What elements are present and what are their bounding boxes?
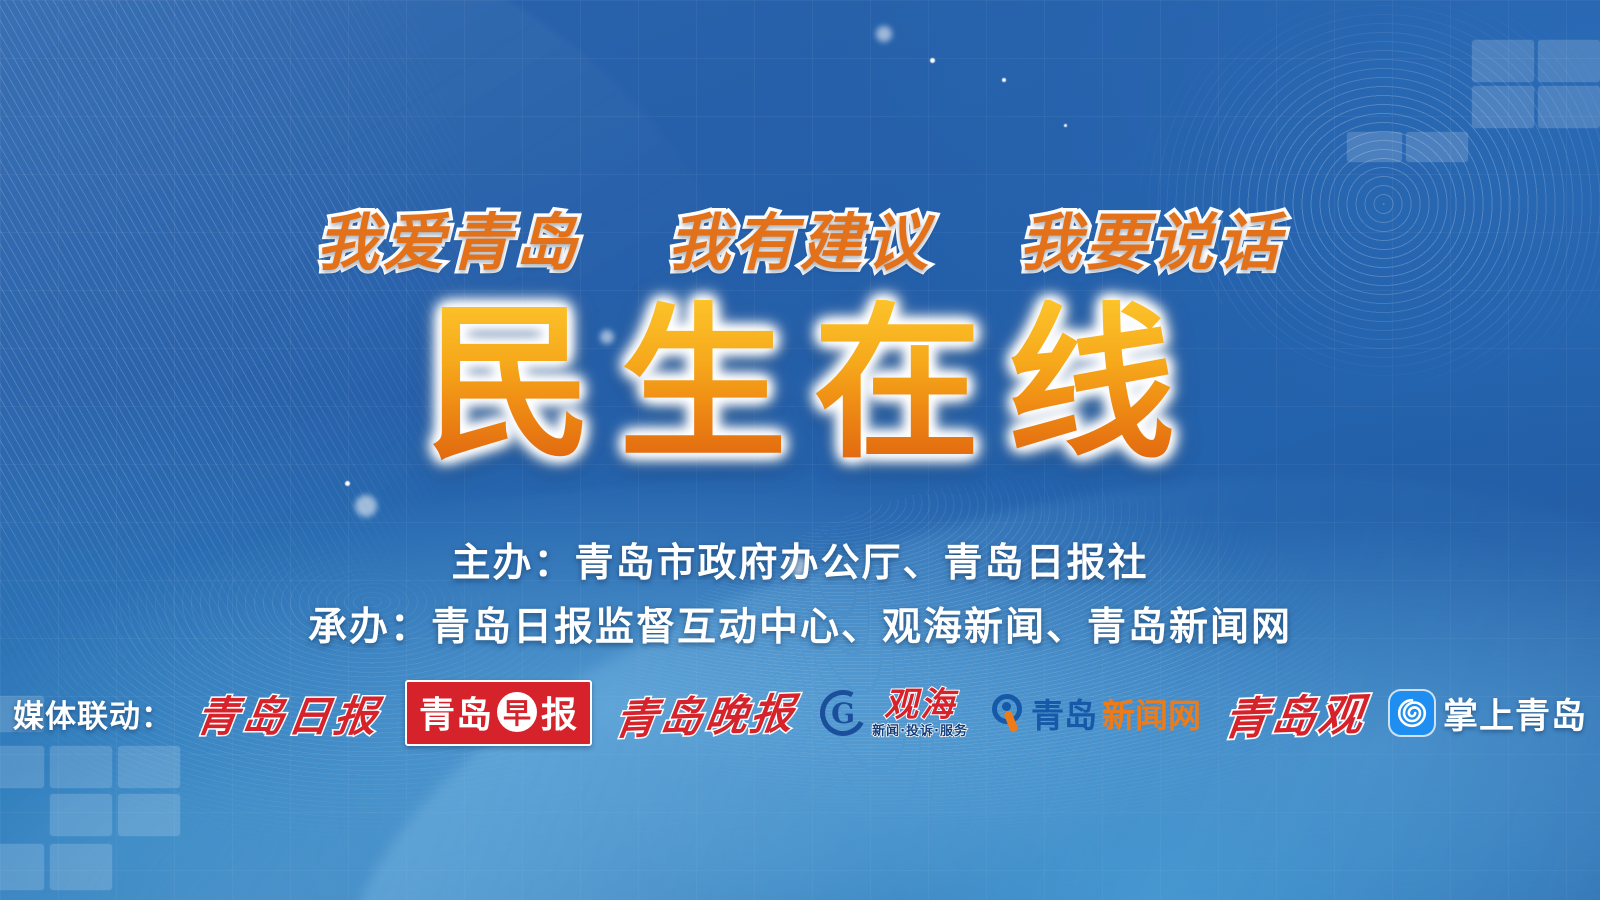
logo-guanhai-text: 观海 [884, 688, 956, 722]
media-partners-row: 媒体联动： 青岛日报 青岛 早 报 青岛晚报 G 观海 新闻·投诉·服务 [0, 676, 1600, 750]
logo-guanhai-text-block: 观海 新闻·投诉·服务 [872, 688, 968, 738]
media-partners-label: 媒体联动： [13, 691, 173, 736]
logo-guanhai-subtext: 新闻·投诉·服务 [872, 725, 968, 738]
tagline-part-2: 我有建议 [668, 206, 932, 279]
logo-qingdao-news-net-prefix: 青岛 [1031, 689, 1097, 737]
logo-qingdao-news-net-suffix: 新闻网 [1102, 689, 1201, 737]
logo-qingdao-evening-news[interactable]: 青岛晚报 [616, 683, 796, 744]
logo-qingdao-news-net[interactable]: 青岛 新闻网 [992, 689, 1201, 737]
logo-guanhai[interactable]: G 观海 新闻·投诉·服务 [820, 688, 968, 738]
main-title-wrapper: 民生在线 [0, 300, 1600, 468]
logo-qingdao-morning-post-suffix: 报 [541, 686, 578, 738]
magnifier-icon [992, 694, 1026, 732]
logo-qingdao-morning-post[interactable]: 青岛 早 报 [405, 680, 592, 746]
logo-qingdao-evening-news-text: 青岛晚报 [611, 679, 801, 746]
logo-zhangshang-qingdao[interactable]: 掌上青岛 [1390, 688, 1587, 739]
poster-content: 我爱青岛 我有建议 我要说话 民生在线 主办：青岛市政府办公厅、青岛日报社 承办… [0, 0, 1600, 900]
guanhai-brush-circle-icon: G [814, 684, 872, 742]
logo-qingdao-daily[interactable]: 青岛日报 [197, 683, 381, 744]
logo-qingdaoguan-text: 青岛观 [1221, 679, 1371, 748]
main-title: 民生在线 [399, 300, 1201, 468]
poster-canvas: 我爱青岛 我有建议 我要说话 民生在线 主办：青岛市政府办公厅、青岛日报社 承办… [0, 0, 1600, 900]
logo-qingdaoguan[interactable]: 青岛观 [1225, 681, 1366, 745]
logo-qingdao-morning-post-badge: 早 [497, 692, 537, 732]
logo-qingdao-daily-text: 青岛日报 [193, 683, 386, 744]
guanhai-mark-letter: G [831, 697, 855, 730]
logo-qingdao-morning-post-prefix: 青岛 [419, 686, 493, 738]
tagline: 我爱青岛 我有建议 我要说话 [0, 192, 1600, 282]
organizer-line: 承办：青岛日报监督互动中心、观海新闻、青岛新闻网 [0, 596, 1600, 652]
tagline-part-3: 我要说话 [1019, 206, 1283, 279]
tagline-part-1: 我爱青岛 [317, 206, 581, 279]
spiral-icon [1390, 691, 1434, 735]
host-line: 主办：青岛市政府办公厅、青岛日报社 [0, 532, 1600, 588]
logo-zhangshang-qingdao-text: 掌上青岛 [1443, 688, 1587, 739]
